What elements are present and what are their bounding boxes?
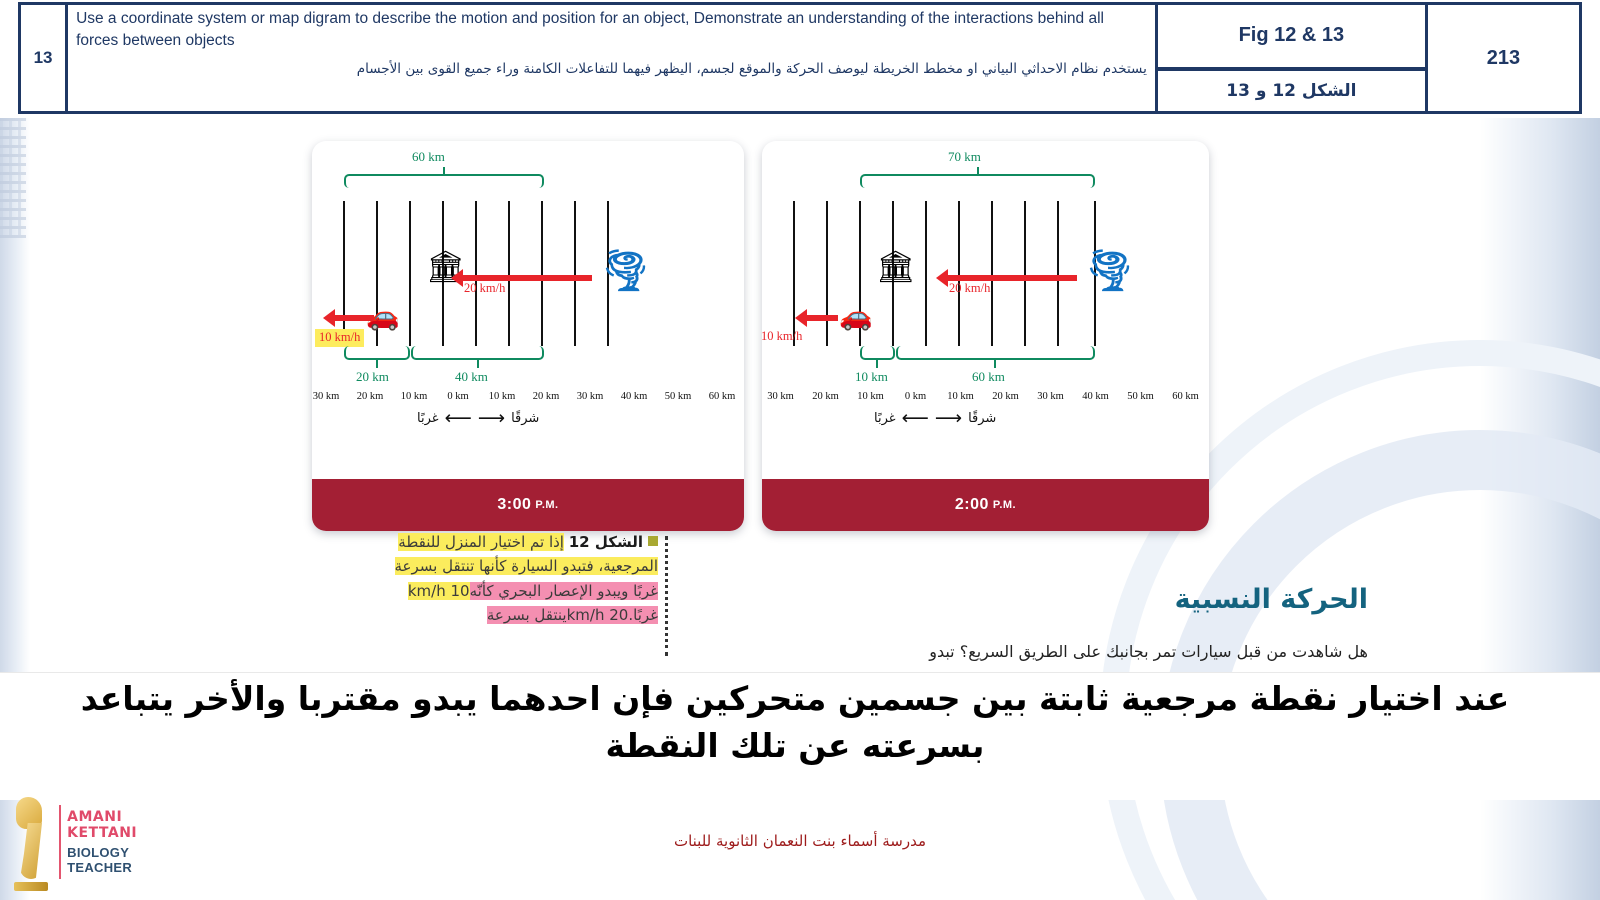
table-row-number: 13: [21, 5, 68, 111]
figure-left-body: 60 km 🏛 🚗 🌪 20 km/h 10 km/h: [312, 141, 744, 479]
objective-table: 13 Use a coordinate system or map digram…: [18, 2, 1582, 114]
section-heading: الحركة النسبية: [1175, 584, 1368, 615]
bracket-bottom-1-label-left: 20 km: [356, 369, 389, 385]
tick-label: 30 km: [762, 391, 803, 402]
overlay-statement-line1: عند اختيار نقطة مرجعية ثابتة بين جسمين م…: [30, 676, 1560, 723]
caption-line3-speed: 10 km/h: [408, 582, 470, 600]
caption-line4-post: غربًا.: [628, 606, 658, 624]
tick-label: 20 km: [524, 391, 568, 402]
caption-line4-pre: ينتقل بسرعة: [487, 606, 567, 624]
tick-label: 30 km: [568, 391, 612, 402]
tick-label: 50 km: [656, 391, 700, 402]
tick-label: 0 km: [893, 391, 938, 402]
cyclone-icon: 🌪: [1084, 251, 1135, 291]
caption-line1-text: إذا تم اختيار المنزل للنقطة: [398, 533, 564, 551]
figure-time-right: 2:00: [955, 496, 989, 514]
arrow-east-icon: ⟶: [478, 409, 505, 428]
figure-time-suffix-right: P.M.: [993, 499, 1016, 511]
caption-line4-speed: 20 km/h: [567, 606, 629, 624]
car-arrow-left: [334, 315, 374, 321]
bracket-bottom-2-left: [411, 346, 544, 360]
bracket-bottom-2-right: [896, 346, 1095, 360]
house-icon: 🏛: [876, 251, 915, 282]
caption-line-4: غربًا.20 km/hينتقل بسرعة: [318, 603, 658, 627]
figure-time-left: 3:00: [497, 496, 531, 514]
bracket-top-tick-right: [977, 167, 979, 176]
direction-row-right: شرقًا ⟶ ⟵ غربًا: [874, 409, 996, 428]
tick-label-row-left: 30 km20 km10 km0 km10 km20 km30 km40 km5…: [312, 391, 744, 402]
slide-page: 13 Use a coordinate system or map digram…: [0, 0, 1600, 900]
arrow-west-icon: ⟵: [445, 409, 472, 428]
overlay-statement-line2: بسرعته عن تلك النقطة: [30, 723, 1560, 770]
caption-line3-rest: غربًا ويبدو الإعصار البحري كأنّه: [470, 582, 658, 600]
figure-card-right: 70 km 🏛 🚗 🌪 20 km/h 10 km/h 10 km 60: [762, 141, 1209, 531]
bracket-bottom-2-tick-right: [994, 359, 996, 368]
direction-row-left: شرقًا ⟶ ⟵ غربًا: [417, 409, 539, 428]
tick-label: 30 km: [1028, 391, 1073, 402]
tick-label: 20 km: [983, 391, 1028, 402]
bracket-bottom-2-tick-left: [477, 359, 479, 368]
tick-label: 20 km: [803, 391, 848, 402]
table-objective-cell: Use a coordinate system or map digram to…: [68, 5, 1158, 111]
tick-label: 40 km: [612, 391, 656, 402]
figure-time-banner-right: 2:00 P.M.: [762, 479, 1209, 531]
bracket-top-label-left: 60 km: [412, 149, 445, 165]
figure-label-en: Fig 12 & 13: [1158, 5, 1425, 71]
bracket-top-label-right: 70 km: [948, 149, 981, 165]
caption-figure-label: الشكل 12: [569, 533, 643, 551]
direction-west-label-right: غربًا: [874, 411, 896, 426]
direction-west-label-left: غربًا: [417, 411, 439, 426]
direction-east-label-left: شرقًا: [511, 411, 539, 426]
school-name: مدرسة أسماء بنت النعمان الثانوية للبنات: [0, 832, 1600, 850]
objective-text-en: Use a coordinate system or map digram to…: [76, 8, 1147, 53]
objective-text-ar: يستخدم نظام الاحداثي البياني او مخطط الخ…: [76, 61, 1147, 79]
bracket-top-left: [344, 174, 544, 188]
bracket-top-tick-left: [443, 167, 445, 176]
tick-label: 10 km: [848, 391, 893, 402]
tick-label: 40 km: [1073, 391, 1118, 402]
section-body-text: هل شاهدت من قبل سيارات تمر بجانبك على ال…: [728, 640, 1368, 664]
car-arrow-right: [806, 315, 838, 321]
figure-time-suffix-left: P.M.: [535, 499, 558, 511]
direction-east-label-right: شرقًا: [968, 411, 996, 426]
tick-label: 10 km: [480, 391, 524, 402]
car-icon: 🚗: [839, 303, 873, 330]
bracket-bottom-1-label-right: 10 km: [855, 369, 888, 385]
car-speed-left: 10 km/h: [315, 329, 364, 347]
tick-label-row-right: 30 km20 km10 km0 km10 km20 km30 km40 km5…: [762, 391, 1208, 402]
figure-caption: الشكل 12 إذا تم اختيار المنزل للنقطة الم…: [318, 530, 658, 627]
tick-label: 20 km: [348, 391, 392, 402]
figure-right-body: 70 km 🏛 🚗 🌪 20 km/h 10 km/h 10 km 60: [762, 141, 1209, 479]
tick-label: 50 km: [1118, 391, 1163, 402]
caption-line-1: الشكل 12 إذا تم اختيار المنزل للنقطة: [318, 530, 658, 554]
bracket-bottom-2-label-left: 40 km: [455, 369, 488, 385]
caption-line-2: المرجعية، فتبدو السيارة كأنها تنتقل بسرع…: [318, 554, 658, 578]
bracket-bottom-1-left: [344, 346, 410, 360]
bracket-bottom-1-tick-left: [376, 359, 378, 368]
arrow-east-icon: ⟶: [935, 409, 962, 428]
hurricane-speed-left: 20 km/h: [464, 281, 505, 296]
figure-label-ar: الشكل 12 و 13: [1158, 71, 1425, 111]
tick-label: 60 km: [700, 391, 744, 402]
arrow-west-icon: ⟵: [902, 409, 929, 428]
caption-bullet-icon: [648, 536, 658, 546]
bracket-bottom-2-label-right: 60 km: [972, 369, 1005, 385]
bracket-top-right: [860, 174, 1095, 188]
car-speed-right: 10 km/h: [762, 329, 802, 344]
caption-line2-text: المرجعية، فتبدو السيارة كأنها تنتقل بسرع…: [395, 557, 658, 575]
hurricane-speed-right: 20 km/h: [949, 281, 990, 296]
bracket-bottom-1-tick-right: [876, 359, 878, 368]
table-figure-cell: Fig 12 & 13 الشكل 12 و 13: [1158, 5, 1428, 111]
caption-line-3: غربًا ويبدو الإعصار البحري كأنّه10 km/h: [318, 579, 658, 603]
tick-label: 10 km: [392, 391, 436, 402]
figure-card-left: 60 km 🏛 🚗 🌪 20 km/h 10 km/h: [312, 141, 744, 531]
caption-dotted-rule: [665, 536, 668, 656]
overlay-statement: عند اختيار نقطة مرجعية ثابتة بين جسمين م…: [30, 676, 1560, 770]
tick-label: 10 km: [938, 391, 983, 402]
figure-time-banner-left: 3:00 P.M.: [312, 479, 744, 531]
tick-label: 0 km: [436, 391, 480, 402]
bracket-bottom-1-right: [860, 346, 895, 360]
cyclone-icon: 🌪: [600, 251, 651, 291]
background-dot-pattern: [0, 118, 26, 238]
page-number: 213: [1428, 5, 1579, 111]
tick-label: 60 km: [1163, 391, 1208, 402]
tick-label: 30 km: [312, 391, 348, 402]
